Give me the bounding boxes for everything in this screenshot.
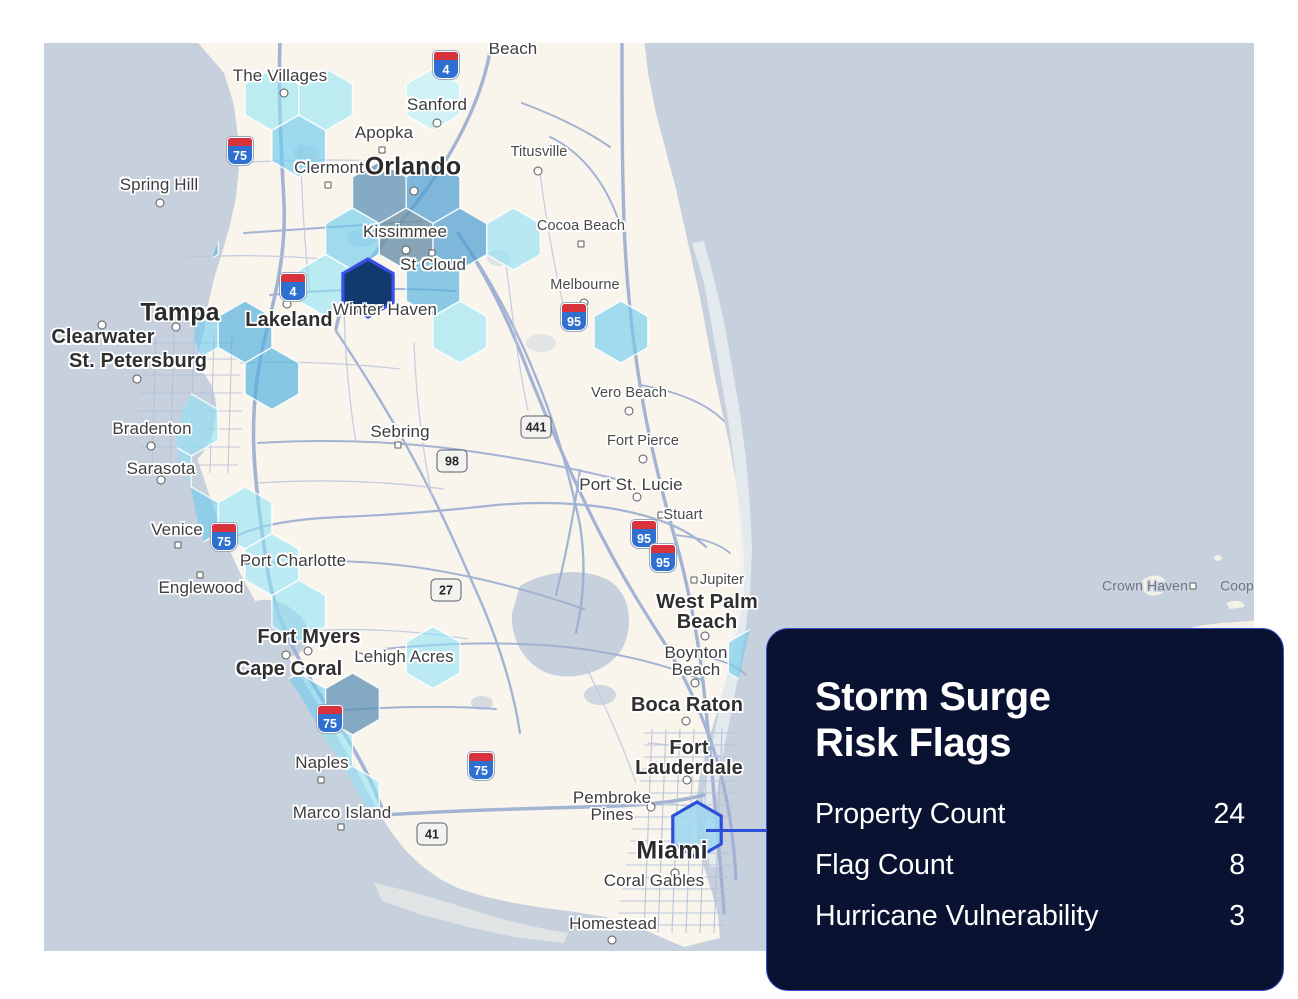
map-city-label: Homestead [569, 915, 657, 933]
map-city-label: Fort Lauderdale [635, 738, 743, 778]
city-marker-dot [379, 147, 386, 154]
metric-label: Property Count [815, 798, 1005, 831]
city-marker-dot [147, 442, 156, 451]
city-marker-dot [658, 512, 665, 519]
city-marker-dot [283, 300, 292, 309]
us-route-shield-icon: 441 [521, 416, 552, 439]
city-marker-dot [622, 877, 629, 884]
callout-connector-line [706, 829, 768, 832]
city-marker-dot [433, 119, 442, 128]
card-metric-row: Hurricane Vulnerability3 [815, 900, 1245, 933]
map-city-label: Englewood [158, 579, 243, 597]
metric-label: Flag Count [815, 849, 953, 882]
map-city-label: Spring Hill [120, 176, 199, 194]
card-title: Storm Surge Risk Flags [815, 675, 1245, 766]
shield-number: 75 [212, 535, 236, 549]
map-city-label: Stuart [663, 508, 702, 524]
city-marker-dot [318, 777, 325, 784]
city-marker-dot [337, 306, 344, 313]
map-city-label: Winter Haven [333, 301, 437, 319]
storm-surge-info-card[interactable]: Storm Surge Risk Flags Property Count24F… [766, 628, 1284, 991]
city-marker-dot [580, 299, 589, 308]
city-marker-dot [608, 936, 617, 945]
city-marker-dot [429, 250, 436, 257]
interstate-shield-icon: 75 [211, 523, 237, 551]
map-city-label: Sarasota [127, 460, 196, 478]
shield-number: 95 [651, 556, 675, 570]
map-city-label: Orlando [365, 154, 462, 181]
shield-number: 4 [434, 63, 458, 77]
map-city-label: Vero Beach [591, 386, 667, 402]
interstate-shield-icon: 95 [650, 544, 676, 572]
city-marker-dot [338, 824, 345, 831]
city-marker-dot [647, 803, 656, 812]
interstate-shield-icon: 4 [280, 273, 306, 301]
interstate-shield-icon: 75 [468, 752, 494, 780]
map-city-label: Apopka [355, 124, 413, 142]
city-marker-dot [691, 577, 698, 584]
map-city-label: Clermont [294, 159, 364, 177]
city-marker-dot [633, 493, 642, 502]
metric-value: 24 [1189, 798, 1245, 831]
map-city-label: Naples [295, 754, 349, 772]
city-marker-dot [175, 542, 182, 549]
city-marker-dot [639, 455, 648, 464]
city-marker-dot [356, 653, 365, 662]
map-city-label: Port St. Lucie [579, 476, 682, 494]
map-city-label: Cocoa Beach [537, 219, 625, 235]
metric-label: Hurricane Vulnerability [815, 900, 1098, 933]
map-city-label: Sanford [407, 96, 467, 114]
map-city-label: Tampa [140, 300, 219, 327]
city-marker-dot [671, 869, 680, 878]
map-city-label: Coral Gables [604, 872, 704, 890]
us-route-shield-icon: 41 [417, 823, 448, 846]
shield-number: 41 [417, 823, 448, 846]
shield-number: 75 [318, 717, 342, 731]
city-marker-dot [282, 651, 291, 660]
city-marker-dot [1190, 583, 1197, 590]
interstate-shield-icon: 95 [631, 520, 657, 548]
city-marker-dot [156, 199, 165, 208]
map-city-label: Coop [1220, 578, 1254, 593]
map-city-label: The Villages [233, 67, 327, 85]
city-marker-dot [578, 241, 585, 248]
map-city-label: St Cloud [400, 256, 466, 274]
us-route-shield-icon: 27 [431, 579, 462, 602]
shield-number: 95 [562, 315, 586, 329]
map-city-label: West Palm Beach [656, 592, 758, 632]
city-marker-dot [625, 407, 634, 416]
city-marker-dot [197, 572, 204, 579]
city-marker-dot [133, 375, 142, 384]
city-marker-dot [325, 182, 332, 189]
map-city-label: St. Petersburg [69, 351, 207, 373]
map-city-label: Pembroke Pines [573, 789, 651, 823]
map-city-label: Sebring [370, 423, 429, 441]
shield-number: 4 [281, 285, 305, 299]
map-city-label: Fort Pierce [607, 434, 679, 450]
shield-number: 75 [228, 149, 252, 163]
map-city-label: Marco Island [293, 804, 392, 822]
city-marker-dot [304, 647, 313, 656]
city-marker-dot [402, 246, 411, 255]
city-marker-dot [157, 476, 166, 485]
card-metric-row: Property Count24 [815, 798, 1245, 831]
map-city-label: Lehigh Acres [354, 648, 454, 666]
city-marker-dot [410, 187, 419, 196]
city-marker-dot [280, 89, 289, 98]
map-city-label: Lakeland [245, 310, 333, 332]
map-city-label: Melbourne [550, 278, 619, 294]
city-marker-dot [98, 321, 107, 330]
shield-number: 441 [521, 416, 552, 439]
map-city-label: Fort Myers [257, 627, 360, 649]
shield-number: 27 [431, 579, 462, 602]
map-city-label: Bradenton [112, 420, 191, 438]
city-marker-dot [243, 558, 250, 565]
us-route-shield-icon: 98 [437, 450, 468, 473]
map-visualization-page: BeachThe VillagesSanfordApopkaTitusville… [0, 0, 1298, 999]
city-marker-dot [683, 776, 692, 785]
map-city-label: Kissimmee [363, 223, 447, 241]
city-marker-dot [534, 167, 543, 176]
map-city-label: Venice [151, 521, 203, 539]
city-marker-dot [691, 679, 700, 688]
interstate-shield-icon: 75 [227, 137, 253, 165]
map-city-label: Boca Raton [631, 695, 743, 717]
city-marker-dot [701, 632, 710, 641]
map-city-label: Crown Haven [1102, 578, 1188, 593]
shield-number: 98 [437, 450, 468, 473]
city-marker-dot [172, 323, 181, 332]
map-city-label: Miami [636, 838, 707, 865]
interstate-shield-icon: 4 [433, 51, 459, 79]
map-city-label: Port Charlotte [240, 552, 346, 570]
shield-number: 75 [469, 764, 493, 778]
map-city-label: Beach [489, 43, 538, 58]
map-city-label: Cape Coral [236, 659, 343, 681]
city-marker-dot [395, 442, 402, 449]
shield-number: 95 [632, 532, 656, 546]
metric-value: 8 [1189, 849, 1245, 882]
map-city-label: Jupiter [700, 573, 744, 589]
map-city-label: Titusville [511, 145, 568, 161]
map-city-label: Boynton Beach [664, 644, 727, 678]
interstate-shield-icon: 95 [561, 303, 587, 331]
metric-value: 3 [1189, 900, 1245, 933]
card-metrics-list: Property Count24Flag Count8Hurricane Vul… [815, 798, 1245, 933]
city-marker-dot [682, 717, 691, 726]
interstate-shield-icon: 75 [317, 705, 343, 733]
map-city-label: Clearwater [51, 327, 154, 349]
card-metric-row: Flag Count8 [815, 849, 1245, 882]
